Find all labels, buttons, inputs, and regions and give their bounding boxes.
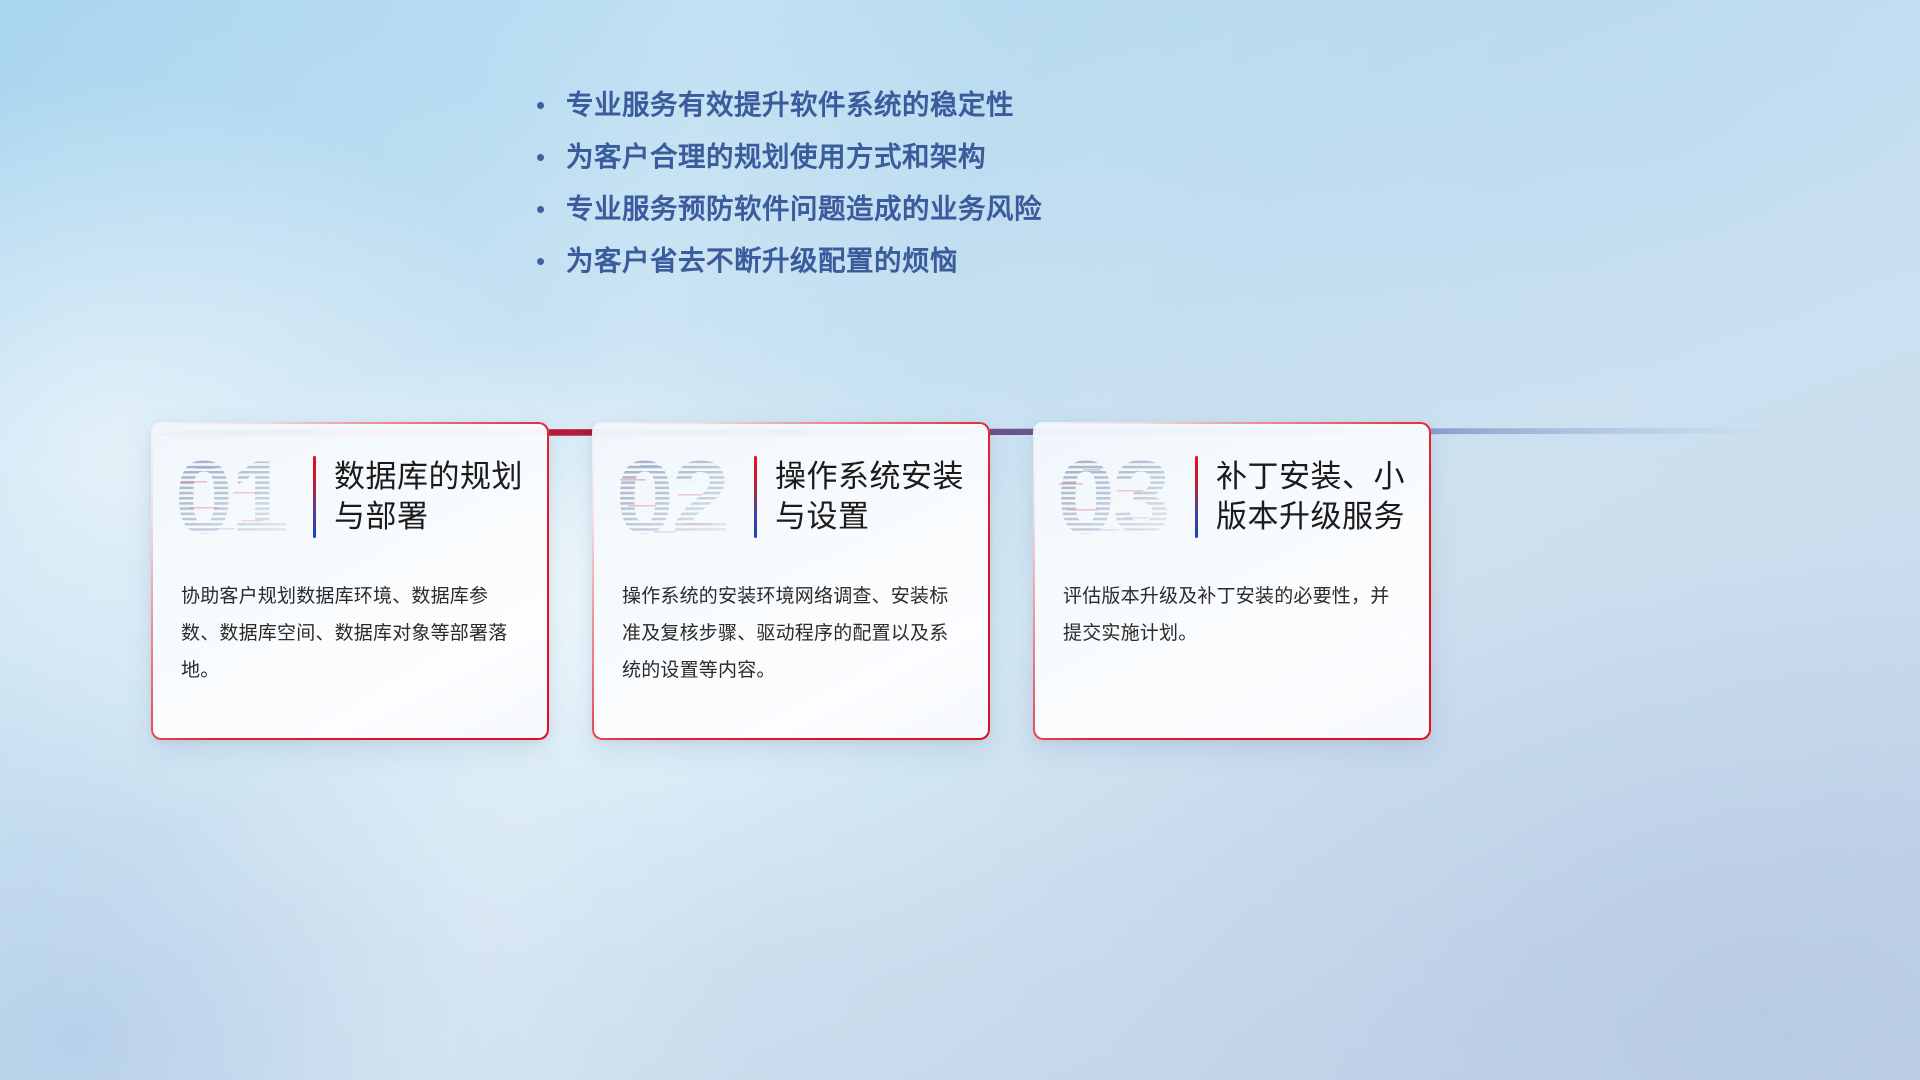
svg-text:03: 03: [1057, 445, 1169, 553]
bullet-text: 专业服务预防软件问题造成的业务风险: [566, 192, 1042, 225]
card-accent-rule: [1195, 456, 1198, 538]
card-accent-rule: [313, 456, 316, 538]
card-header: 03 补丁安装、小版本升级服务: [1033, 422, 1431, 572]
bullet-marker-icon: •: [536, 196, 566, 222]
svg-text:01: 01: [175, 445, 287, 553]
feature-card-row: 01 数据库的规划与部署 协助客户规划数据: [151, 422, 1771, 762]
card-number-striped-icon: 01: [175, 445, 307, 553]
card-header: 01 数据库的规划与部署: [151, 422, 549, 572]
bullet-marker-icon: •: [536, 248, 566, 274]
bullet-list: • 专业服务有效提升软件系统的稳定性 • 为客户合理的规划使用方式和架构 • 专…: [536, 88, 1436, 296]
bullet-text: 为客户合理的规划使用方式和架构: [566, 140, 986, 173]
card-title: 数据库的规划与部署: [334, 457, 527, 536]
bullet-item: • 为客户省去不断升级配置的烦恼: [536, 244, 1436, 296]
feature-card[interactable]: 03 补丁安装、小版本升级服务 评估版本升: [1033, 422, 1431, 740]
svg-text:02: 02: [616, 445, 728, 553]
card-body-text: 评估版本升级及补丁安装的必要性，并提交实施计划。: [1033, 572, 1431, 652]
bullet-marker-icon: •: [536, 144, 566, 170]
card-number-striped-icon: 02: [616, 445, 748, 553]
card-title: 补丁安装、小版本升级服务: [1216, 457, 1409, 536]
bullet-item: • 专业服务预防软件问题造成的业务风险: [536, 192, 1436, 244]
bullet-item: • 专业服务有效提升软件系统的稳定性: [536, 88, 1436, 140]
card-title: 操作系统安装与设置: [775, 457, 968, 536]
card-number-striped-icon: 03: [1057, 445, 1189, 553]
card-header: 02 操作系统安装与设置: [592, 422, 990, 572]
feature-card[interactable]: 02 操作系统安装与设置 操作系统的安装环: [592, 422, 990, 740]
card-body-text: 操作系统的安装环境网络调查、安装标准及复核步骤、驱动程序的配置以及系统的设置等内…: [592, 572, 990, 689]
card-body-text: 协助客户规划数据库环境、数据库参数、数据库空间、数据库对象等部署落地。: [151, 572, 549, 689]
feature-card[interactable]: 01 数据库的规划与部署 协助客户规划数据: [151, 422, 549, 740]
slide-canvas: • 专业服务有效提升软件系统的稳定性 • 为客户合理的规划使用方式和架构 • 专…: [0, 0, 1920, 1080]
card-accent-rule: [754, 456, 757, 538]
bullet-item: • 为客户合理的规划使用方式和架构: [536, 140, 1436, 192]
bullet-text: 为客户省去不断升级配置的烦恼: [566, 244, 958, 277]
bullet-text: 专业服务有效提升软件系统的稳定性: [566, 88, 1014, 121]
bullet-marker-icon: •: [536, 92, 566, 118]
